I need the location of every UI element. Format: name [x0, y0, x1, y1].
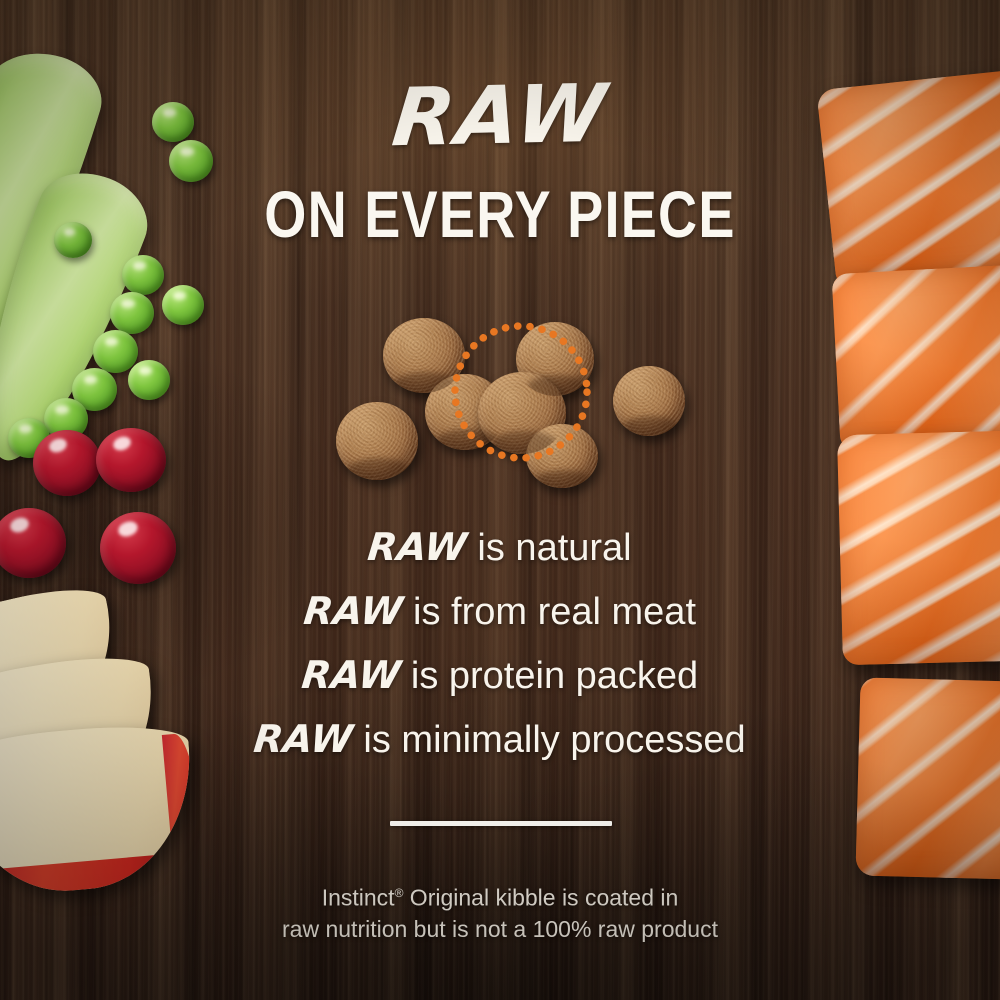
text-overlay: RAW ON EVERY PIECE RAW is natural RAW is… [0, 0, 1000, 1000]
legal-footnote: Instinct® Original kibble is coated in r… [0, 878, 1000, 945]
claim-item: RAW is from real meat [0, 580, 1000, 644]
claim-keyword: RAW [365, 516, 470, 579]
claim-text: is protein packed [400, 655, 698, 697]
hero-headline: ON EVERY PIECE [90, 176, 910, 252]
claim-keyword: RAW [251, 708, 356, 771]
claim-item: RAW is protein packed [0, 644, 1000, 708]
footnote-line1-rest: Original kibble is coated in [403, 885, 678, 911]
raw-coating-highlight-circle [441, 312, 601, 472]
claim-text: is natural [467, 527, 632, 569]
section-divider [390, 821, 612, 826]
product-feature-image: RAW ON EVERY PIECE RAW is natural RAW is… [0, 0, 1000, 1000]
footnote-line-2: raw nutrition but is not a 100% raw prod… [0, 914, 1000, 945]
claim-text: is from real meat [402, 591, 696, 633]
claim-item: RAW is natural [0, 516, 1000, 580]
claim-keyword: RAW [299, 644, 404, 707]
hero-script-raw: RAW [0, 68, 1000, 165]
footnote-line-1: Instinct® Original kibble is coated in [0, 878, 1000, 914]
claim-text: is minimally processed [353, 719, 746, 761]
claim-item: RAW is minimally processed [0, 708, 1000, 772]
footnote-brand: Instinct [322, 885, 395, 911]
claims-list: RAW is natural RAW is from real meat RAW… [0, 516, 1000, 772]
claim-keyword: RAW [301, 580, 406, 643]
